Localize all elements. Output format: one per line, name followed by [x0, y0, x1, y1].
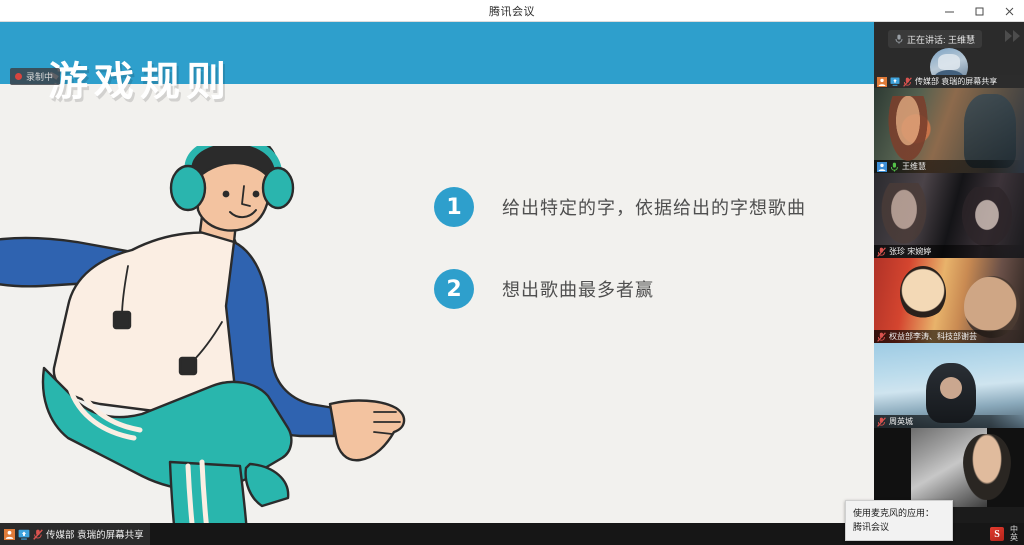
person-badge-icon: [4, 529, 15, 540]
microphone-muted-icon: [877, 247, 886, 257]
bullet-number: 2: [434, 269, 474, 309]
participant-video-rail[interactable]: 正在讲话: 王维慧: [874, 22, 1024, 523]
bullet-item: 1 给出特定的字，依据给出的字想歌曲: [434, 187, 834, 227]
system-tray[interactable]: S 中 英: [990, 523, 1024, 545]
recording-label: 录制中: [26, 70, 53, 83]
microphone-icon: [895, 34, 903, 44]
window-title: 腾讯会议: [489, 3, 535, 19]
tile-label: 权益部李涛、科技部谢芸: [874, 330, 1024, 343]
tile-label: 周英城: [874, 415, 1024, 428]
window-controls: [934, 0, 1024, 22]
speaking-label: 正在讲话: 王维慧: [907, 33, 975, 46]
collapse-chevrons-icon[interactable]: [1005, 30, 1020, 42]
tooltip-line-2: 腾讯会议: [853, 520, 945, 534]
tile-name: 周英城: [889, 416, 913, 427]
tile-participant-video[interactable]: 权益部李涛、科技部谢芸: [874, 258, 1024, 343]
tile-name: 权益部李涛、科技部谢芸: [889, 331, 977, 342]
tray-ime-line-2: 英: [1010, 534, 1018, 542]
tile-active-speaker[interactable]: 正在讲话: 王维慧: [874, 22, 1024, 88]
microphone-usage-tooltip: 使用麦克风的应用： 腾讯会议: [845, 500, 953, 541]
sogou-input-icon[interactable]: S: [990, 527, 1004, 541]
window-title-bar: 腾讯会议: [0, 0, 1024, 22]
microphone-muted-icon: [33, 529, 43, 540]
maximize-button[interactable]: [964, 0, 994, 22]
presentation-slide: 录制中 游戏规则: [0, 22, 874, 523]
recording-badge: 录制中: [10, 68, 60, 85]
slide-bullet-list: 1 给出特定的字，依据给出的字想歌曲 2 想出歌曲最多者赢: [434, 187, 834, 351]
taskbar-share-label: 传媒部 袁瑞的屏幕共享: [46, 527, 144, 541]
person-illustration: [0, 146, 442, 523]
tile-label: 张珍 宋婉婷: [874, 245, 1024, 258]
meeting-body: 录制中 游戏规则: [0, 22, 1024, 523]
screen-share-icon: [890, 77, 900, 86]
bullet-number: 1: [434, 187, 474, 227]
tile-name: 王维慧: [902, 161, 926, 172]
slide-title: 游戏规则: [48, 62, 232, 102]
person-badge-icon: [877, 162, 887, 172]
tray-ime-indicator[interactable]: 中 英: [1010, 526, 1018, 543]
tile-participant-video[interactable]: 张珍 宋婉婷: [874, 173, 1024, 258]
tile-label: 王维慧: [874, 160, 1024, 173]
taskbar-share-item[interactable]: 传媒部 袁瑞的屏幕共享: [0, 523, 150, 545]
microphone-icon: [890, 162, 899, 172]
bullet-item: 2 想出歌曲最多者赢: [434, 269, 834, 309]
self-video-frame: [911, 428, 987, 507]
minimize-button[interactable]: [934, 0, 964, 22]
bullet-text: 给出特定的字，依据给出的字想歌曲: [502, 187, 834, 224]
speaking-indicator: 正在讲话: 王维慧: [888, 30, 982, 48]
microphone-muted-icon: [877, 417, 886, 427]
close-button[interactable]: [994, 0, 1024, 22]
tooltip-line-1: 使用麦克风的应用：: [853, 506, 945, 520]
microphone-muted-icon: [877, 332, 886, 342]
tile-self-view[interactable]: [874, 428, 1024, 507]
person-badge-icon: [877, 77, 887, 87]
screen-share-icon: [18, 529, 30, 540]
tile-participant-video[interactable]: 周英城: [874, 343, 1024, 428]
tile-label: 传媒部 袁瑞的屏幕共享: [874, 75, 1024, 88]
microphone-muted-icon: [903, 77, 912, 87]
tile-name: 张珍 宋婉婷: [889, 246, 931, 257]
tile-name: 传媒部 袁瑞的屏幕共享: [915, 76, 997, 87]
meeting-window: 腾讯会议 录制中 游戏规则: [0, 0, 1024, 545]
tile-participant-video[interactable]: 王维慧: [874, 88, 1024, 173]
shared-screen-area[interactable]: 录制中 游戏规则: [0, 22, 874, 523]
bullet-text: 想出歌曲最多者赢: [502, 269, 834, 306]
record-dot-icon: [15, 73, 22, 80]
